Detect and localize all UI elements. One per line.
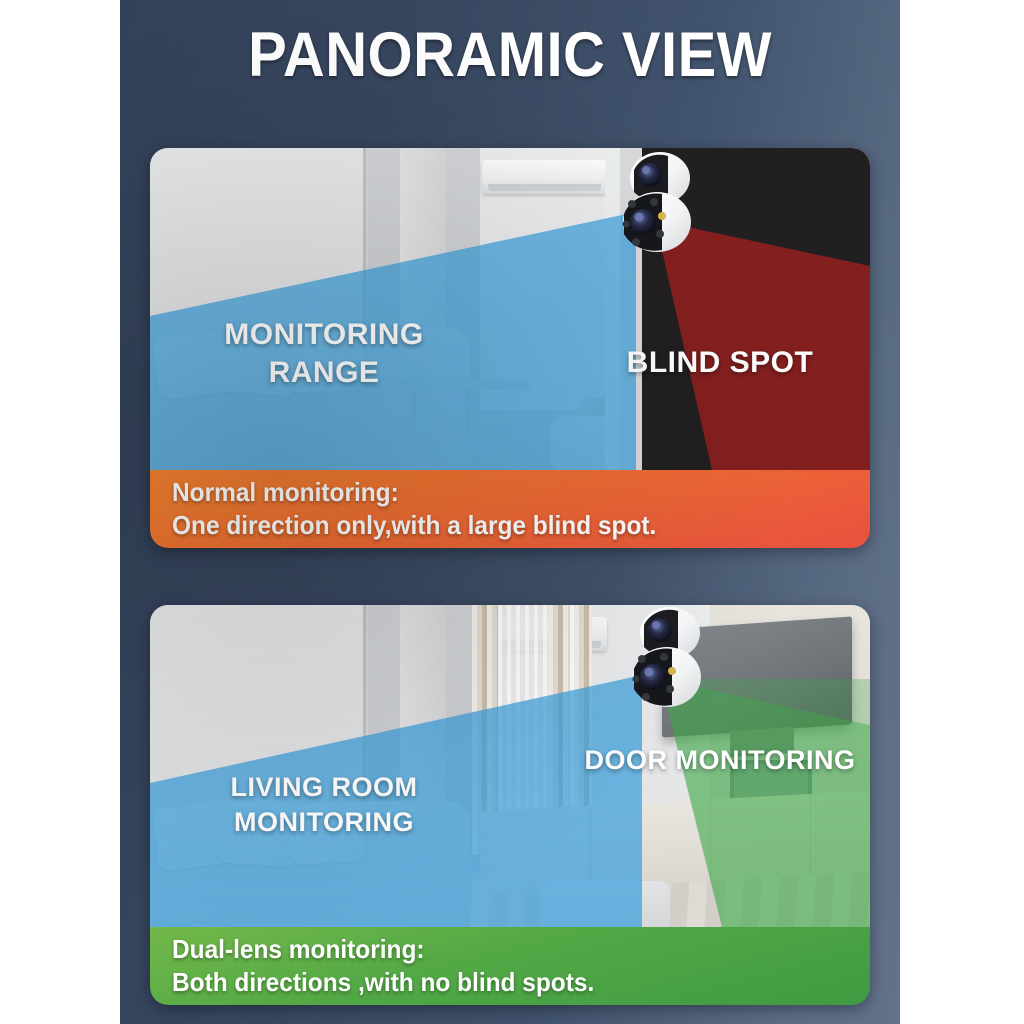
caption-line-1: Dual-lens monitoring: [172, 933, 828, 966]
caption-dual-lens-monitoring: Dual-lens monitoring: Both directions ,w… [150, 927, 870, 1005]
camera-icon [610, 150, 702, 262]
caption-line-1: Normal monitoring: [172, 476, 828, 509]
card-normal-monitoring: MONITORING RANGE BLIND SPOT Normal monit… [150, 148, 870, 548]
scene-dual-lens-monitoring: LIVING ROOM MONITORING DOOR MONITORING [150, 605, 870, 927]
card-dual-lens-monitoring: LIVING ROOM MONITORING DOOR MONITORING D… [150, 605, 870, 1005]
label-blind-spot: BLIND SPOT [570, 344, 870, 382]
camera-icon [620, 605, 712, 717]
label-living-room-monitoring: LIVING ROOM MONITORING [164, 770, 484, 839]
page-title: PANORAMIC VIEW [151, 20, 869, 90]
caption-normal-monitoring: Normal monitoring: One direction only,wi… [150, 470, 870, 548]
scene-normal-monitoring: MONITORING RANGE BLIND SPOT [150, 148, 870, 470]
caption-line-2: Both directions ,with no blind spots. [172, 966, 828, 999]
label-door-monitoring: DOOR MONITORING [570, 743, 870, 778]
infographic-stage: PANORAMIC VIEW [0, 0, 1024, 1024]
caption-line-2: One direction only,with a large blind sp… [172, 509, 828, 542]
main-panel: PANORAMIC VIEW [120, 0, 900, 1024]
label-monitoring-range: MONITORING RANGE [174, 316, 474, 393]
coverage-overlay-card-1 [150, 148, 870, 470]
